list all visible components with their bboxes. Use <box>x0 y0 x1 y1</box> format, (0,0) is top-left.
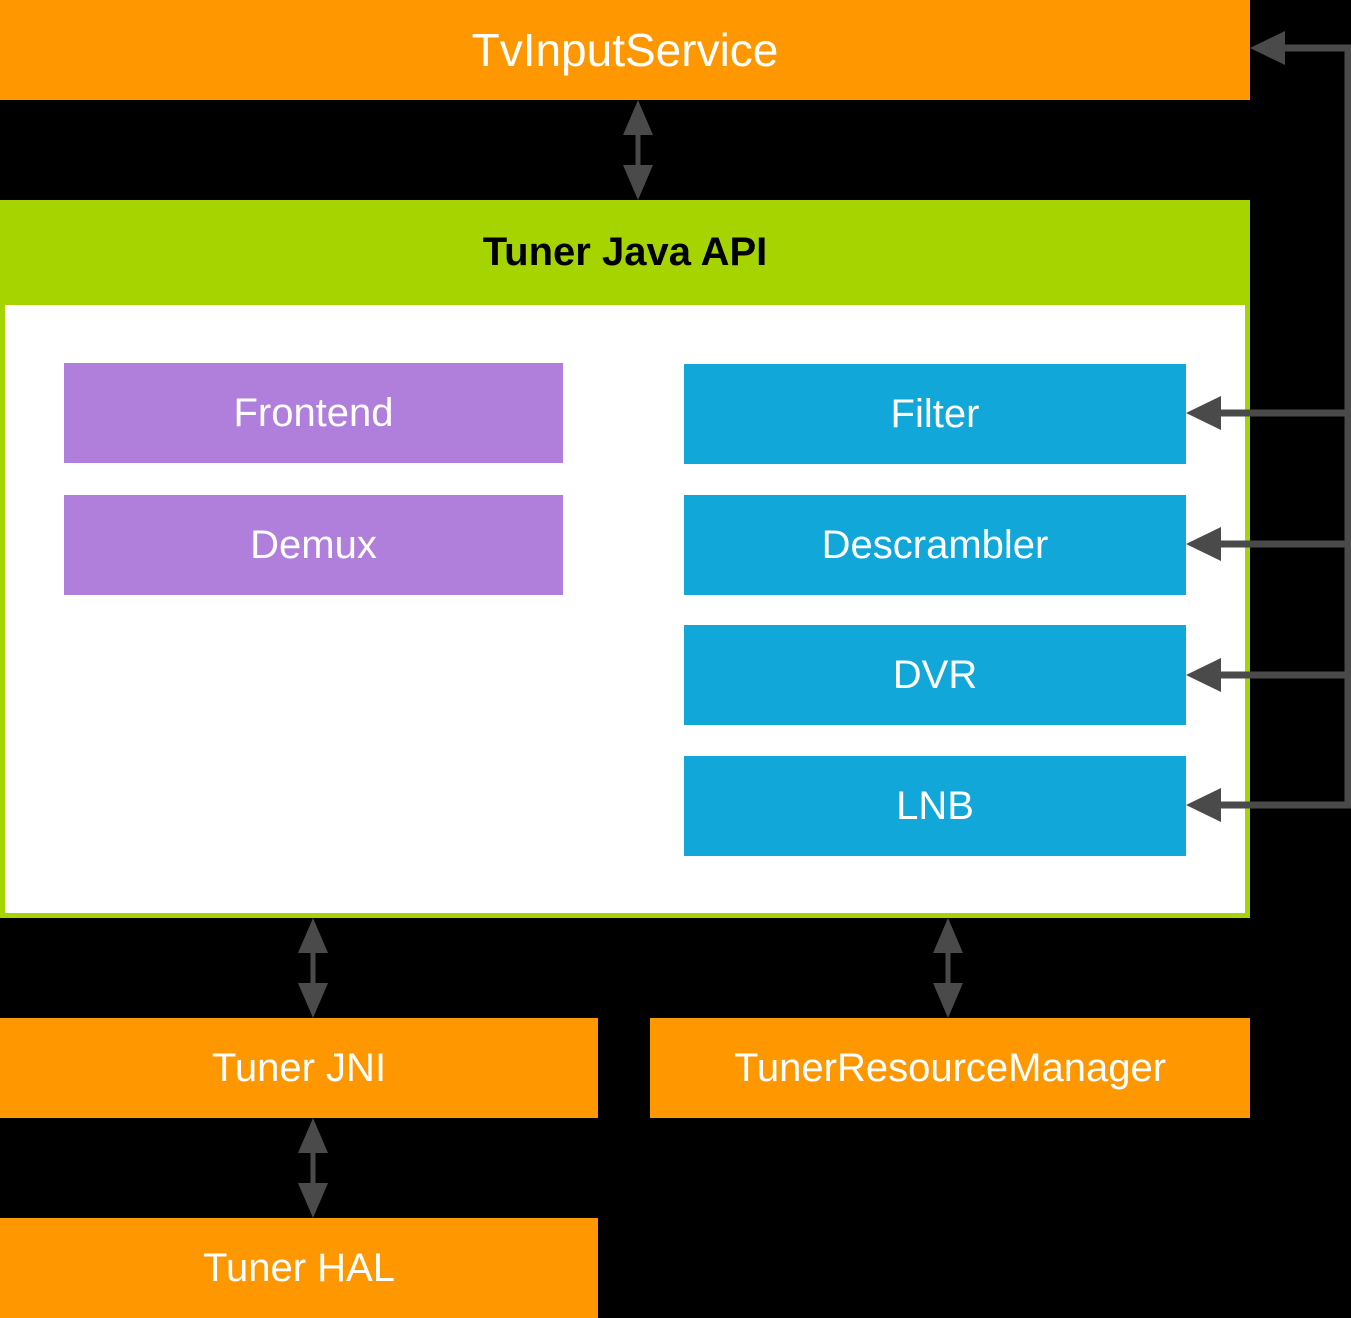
node-label-lnb: LNB <box>896 785 974 827</box>
node-label-dvr: DVR <box>893 654 977 696</box>
node-filter: Filter <box>684 364 1186 464</box>
node-label-tuner-jni: Tuner JNI <box>212 1047 386 1089</box>
node-label-frontend: Frontend <box>233 392 393 434</box>
node-label-tv-input-service: TvInputService <box>472 26 779 74</box>
node-demux: Demux <box>64 495 563 595</box>
connector-tunerjavaapi-tunerresourcemanager <box>933 918 963 1018</box>
node-descrambler: Descrambler <box>684 495 1186 595</box>
architecture-diagram: TvInputService Tuner Java API Frontend D… <box>0 0 1351 1318</box>
connector-tunerjni-tunerhal <box>298 1118 328 1218</box>
node-label-tuner-resource-manager: TunerResourceManager <box>734 1047 1166 1089</box>
node-dvr: DVR <box>684 625 1186 725</box>
connector-tvinputservice-tunerjavaapi <box>623 100 653 200</box>
node-label-tuner-java-api: Tuner Java API <box>0 200 1250 305</box>
node-tuner-jni: Tuner JNI <box>0 1018 598 1118</box>
node-label-tuner-hal: Tuner HAL <box>203 1247 395 1289</box>
node-label-demux: Demux <box>250 524 377 566</box>
node-tuner-hal: Tuner HAL <box>0 1218 598 1318</box>
node-lnb: LNB <box>684 756 1186 856</box>
node-label-filter: Filter <box>891 393 980 435</box>
node-tv-input-service: TvInputService <box>0 0 1250 100</box>
node-tuner-resource-manager: TunerResourceManager <box>650 1018 1250 1118</box>
connector-tunerjavaapi-tunerjni <box>298 918 328 1018</box>
node-label-descrambler: Descrambler <box>822 524 1049 566</box>
node-frontend: Frontend <box>64 363 563 463</box>
